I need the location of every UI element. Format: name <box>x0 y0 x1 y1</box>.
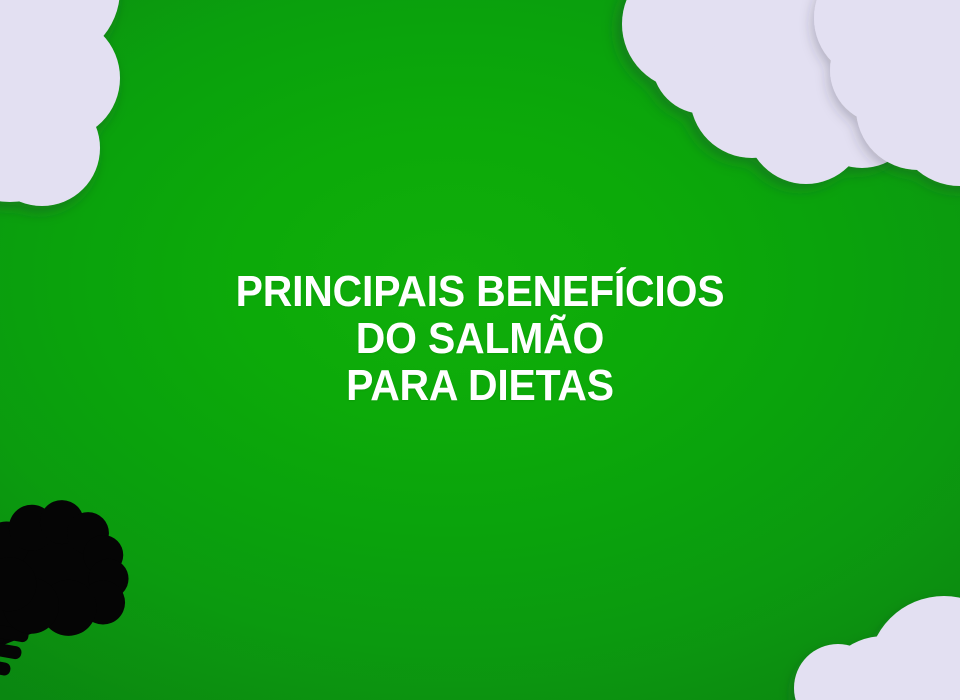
title-line-1: PRINCIPAIS BENEFÍCIOS <box>34 268 927 315</box>
hand-holding-fork-icon <box>0 470 164 700</box>
page-title: PRINCIPAIS BENEFÍCIOS DO SALMÃO PARA DIE… <box>0 268 960 409</box>
title-line-3: PARA DIETAS <box>34 362 927 409</box>
title-line-2: DO SALMÃO <box>34 315 927 362</box>
title-card: PRINCIPAIS BENEFÍCIOS DO SALMÃO PARA DIE… <box>0 0 960 700</box>
